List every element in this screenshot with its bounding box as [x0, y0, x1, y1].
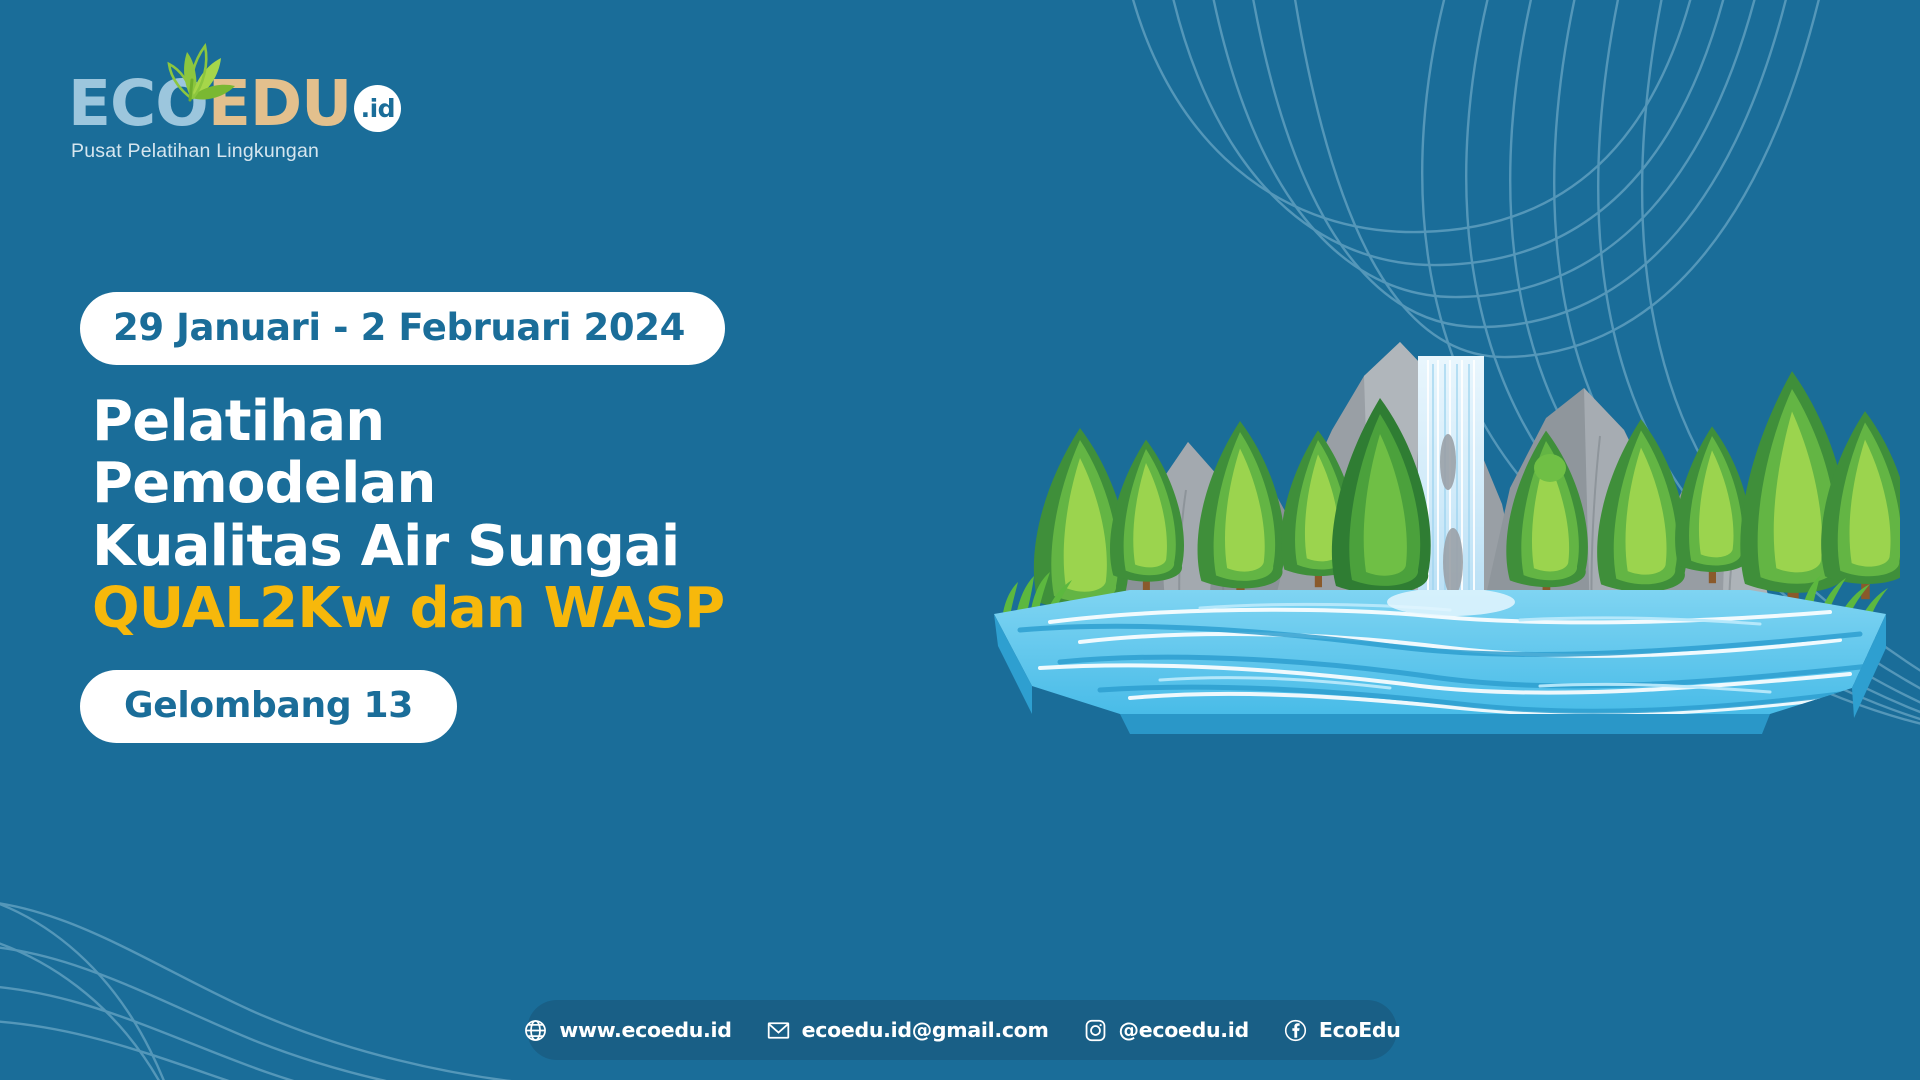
- contact-instagram[interactable]: @ecoedu.id: [1083, 1018, 1249, 1043]
- date-badge: 29 Januari - 2 Februari 2024: [80, 292, 725, 365]
- headline-line-2: Pemodelan: [92, 453, 852, 515]
- contact-email-label: ecoedu.id@gmail.com: [802, 1018, 1049, 1042]
- headline-line-1: Pelatihan: [92, 391, 852, 453]
- contact-website-label: www.ecoedu.id: [559, 1018, 731, 1042]
- brand-logo[interactable]: ECO EDU .id Pusat Pelatihan Lingkungan: [68, 72, 401, 163]
- contact-email[interactable]: ecoedu.id@gmail.com: [766, 1018, 1049, 1043]
- headline-line-3: Kualitas Air Sungai: [92, 516, 852, 578]
- water-island: [994, 588, 1886, 734]
- logo-tagline: Pusat Pelatihan Lingkungan: [71, 140, 401, 163]
- instagram-icon: [1083, 1018, 1108, 1043]
- page-title: Pelatihan Pemodelan Kualitas Air Sungai …: [92, 391, 852, 641]
- facebook-icon: [1283, 1018, 1308, 1043]
- contact-website[interactable]: www.ecoedu.id: [523, 1018, 731, 1043]
- wave-badge: Gelombang 13: [80, 670, 457, 743]
- contact-facebook-label: EcoEdu: [1319, 1018, 1401, 1042]
- leaf-icon: [161, 40, 239, 102]
- logo-wordmark: ECO EDU .id: [68, 72, 401, 135]
- globe-icon: [523, 1018, 548, 1043]
- main-content: 29 Januari - 2 Februari 2024 Pelatihan P…: [92, 292, 852, 743]
- waterfall-illustration: [980, 290, 1900, 760]
- contact-bar: www.ecoedu.id ecoedu.id@gmail.com @ecoed…: [527, 1000, 1397, 1060]
- logo-domain-badge: .id: [354, 85, 401, 132]
- contact-facebook[interactable]: EcoEdu: [1283, 1018, 1401, 1043]
- headline-accent-line: QUAL2Kw dan WASP: [92, 578, 852, 640]
- logo-domain-text: .id: [361, 96, 395, 121]
- envelope-icon: [766, 1018, 791, 1043]
- contact-instagram-label: @ecoedu.id: [1119, 1018, 1249, 1042]
